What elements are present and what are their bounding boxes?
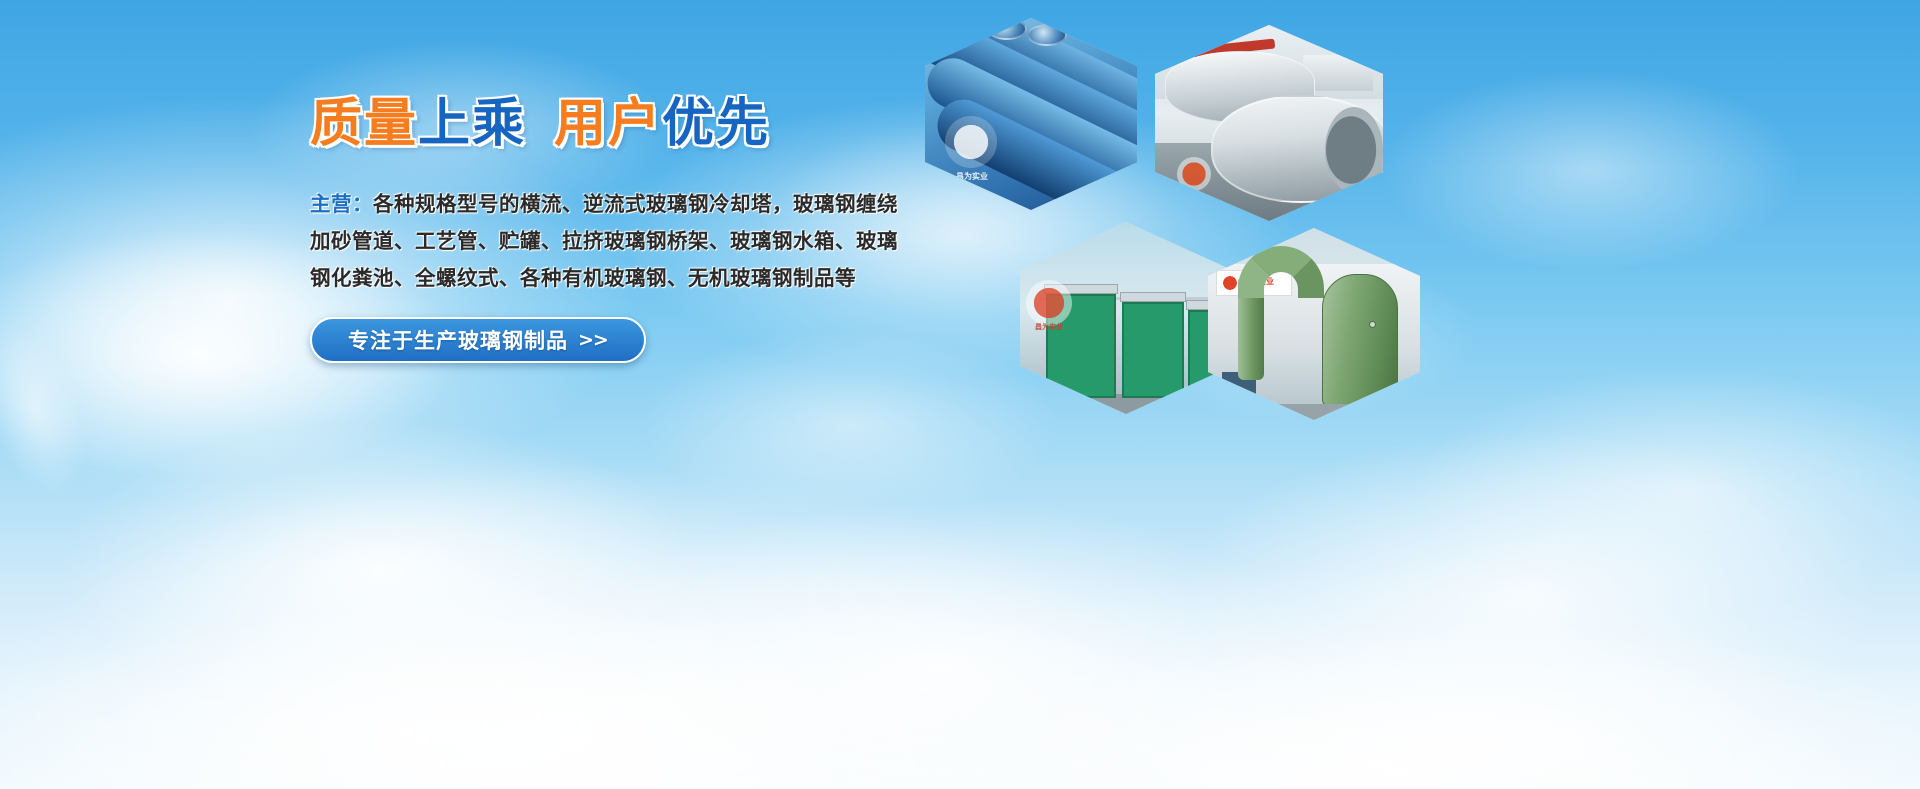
collage-tile-frp-scrubber-tower[interactable]: 昌为实业 [1208,228,1420,420]
watermark-caption: 昌为实业 [1020,322,1082,332]
cta-button-label: 专注于生产玻璃钢制品 [348,325,568,355]
description-body: 各种规格型号的横流、逆流式玻璃钢冷却塔，玻璃钢缠绕加砂管道、工艺管、贮罐、拉挤玻… [310,192,898,290]
cloud-decoration [560,500,1320,789]
cloud-wisp-decoration [0,310,106,509]
banner-headline: 质量上乘用户优先 [310,96,930,152]
watermark-logo-icon [1026,280,1072,326]
pipe-end-cap [1027,24,1067,46]
ground-backdrop [1208,404,1420,420]
banner-copy: 质量上乘用户优先 主营：各种规格型号的横流、逆流式玻璃钢冷却塔，玻璃钢缠绕加砂管… [310,96,930,363]
headline-part-1: 质量 [310,96,418,152]
cta-button[interactable]: 专注于生产玻璃钢制品 >> [310,317,646,363]
headline-part-3: 用户 [554,96,662,152]
cloud-decoration [60,420,700,720]
chevron-right-double-icon: >> [578,329,608,351]
watermark-logo-icon [1220,273,1240,293]
watermark-logo-icon [945,116,997,168]
headline-part-2: 上乘 [418,96,526,152]
pipe-end-cap [987,18,1027,40]
cooling-tower-shape [1122,302,1184,398]
watermark-logo-icon [1177,157,1211,191]
watermark-caption: 昌为实业 [1163,193,1227,203]
cloud-decoration [0,600,900,789]
tank-nozzle-shape [1369,321,1376,328]
hero-banner: 质量上乘用户优先 主营：各种规格型号的横流、逆流式玻璃钢冷却塔，玻璃钢缠绕加砂管… [0,0,1920,789]
watermark-caption: 昌为实业 [937,171,1007,182]
cloud-decoration [980,620,1920,789]
banner-description: 主营：各种规格型号的横流、逆流式玻璃钢冷却塔，玻璃钢缠绕加砂管道、工艺管、贮罐、… [310,186,910,297]
collage-tile-frp-cooling-towers[interactable]: 昌为实业 [1020,222,1232,414]
collage-tile-blue-frp-pipes[interactable]: 昌为实业 [925,18,1137,210]
pipe-end-cap [947,20,987,42]
tower-cap-shape [1120,292,1186,302]
product-photo-collage: 昌为实业 昌为实业 [920,10,1430,400]
collage-tile-grp-winding-pipes[interactable]: 昌为实业 [1155,25,1383,221]
duct-elbow-shape [1238,246,1324,298]
cloud-decoration [1180,430,1880,760]
large-pipe-shape [1211,95,1383,203]
scrubber-tank-shape [1322,274,1398,406]
headline-part-4: 优先 [662,96,770,152]
cloud-decoration [1380,70,1800,270]
description-lead-label: 主营： [310,192,373,216]
